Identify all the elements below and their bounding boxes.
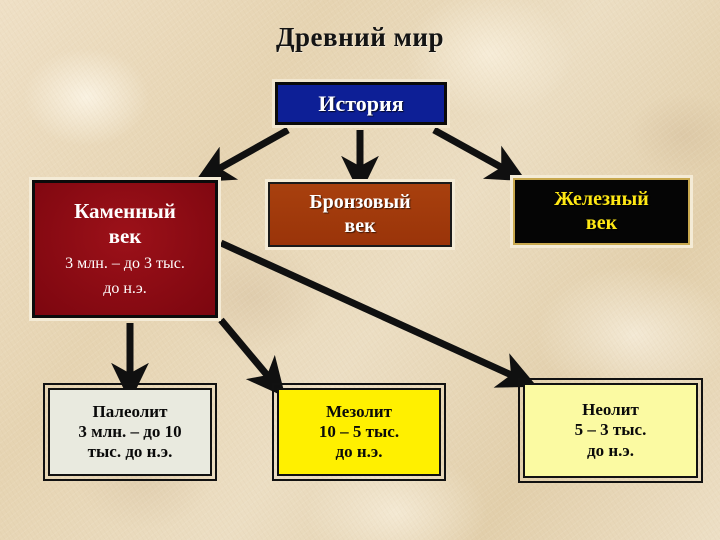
node-bronze-age-title-line1: Бронзовый [309,191,410,215]
node-iron-age-title-line1: Железный [554,188,648,212]
node-iron-age[interactable]: Железный век [513,178,690,245]
page-title: Древний мир [0,22,720,53]
arrow-stone-to-neolithic [221,243,518,378]
node-neolithic-dates-line1: 5 – 3 тыс. [575,420,647,440]
node-mesolithic-dates-line2: до н.э. [336,442,383,462]
node-mesolithic-title: Мезолит [326,402,392,422]
arrow-history-to-stone [213,130,288,172]
node-history-label: История [318,91,403,117]
node-stone-age-dates-line1: 3 млн. – до 3 тыс. [65,255,185,274]
node-stone-age-title-line1: Каменный [74,199,176,224]
arrow-history-to-iron [434,130,508,171]
node-neolithic-dates-line2: до н.э. [587,441,634,461]
node-neolithic[interactable]: Неолит 5 – 3 тыс. до н.э. [523,383,698,478]
node-stone-age-title-line2: век [109,224,142,249]
node-history[interactable]: История [275,82,447,125]
node-stone-age-dates-line2: до н.э. [103,280,147,299]
slide-canvas: Древний мир История Каменный век 3 млн. … [0,0,720,540]
node-bronze-age-title-line2: век [344,215,375,239]
node-iron-age-title-line2: век [586,212,617,236]
node-mesolithic-dates-line1: 10 – 5 тыс. [319,422,399,442]
node-paleolithic-title: Палеолит [93,402,168,422]
node-neolithic-title: Неолит [582,400,639,420]
arrow-stone-to-mesolithic [221,320,272,381]
node-mesolithic[interactable]: Мезолит 10 – 5 тыс. до н.э. [277,388,441,476]
node-paleolithic-dates-line1: 3 млн. – до 10 [78,422,181,442]
node-paleolithic[interactable]: Палеолит 3 млн. – до 10 тыс. до н.э. [48,388,212,476]
node-bronze-age[interactable]: Бронзовый век [268,182,452,247]
node-stone-age[interactable]: Каменный век 3 млн. – до 3 тыс. до н.э. [32,180,218,318]
node-paleolithic-dates-line2: тыс. до н.э. [88,442,173,462]
